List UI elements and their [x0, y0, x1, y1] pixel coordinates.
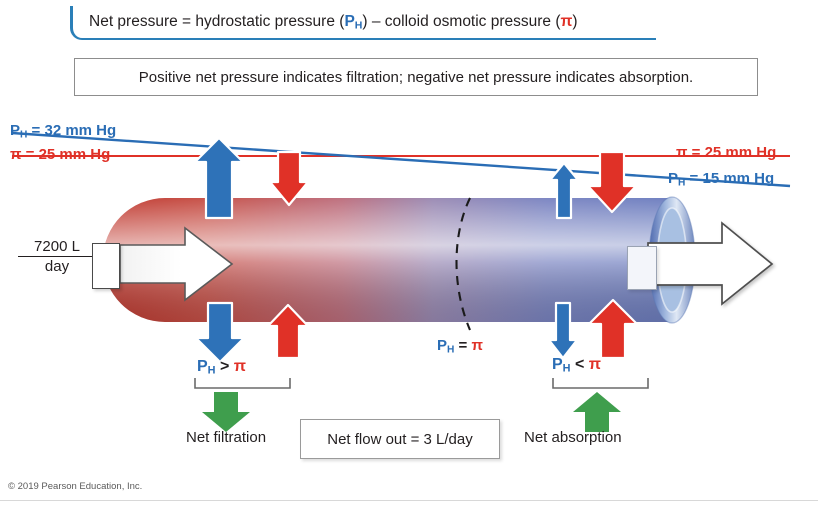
net-filtration-green-arrow [202, 392, 250, 432]
bottom-divider [0, 500, 818, 501]
inflow-rate-numerator: 7200 L [18, 238, 96, 257]
venous-pressure-comparison: PH < π [552, 356, 601, 375]
formula-suffix: ) [572, 13, 577, 31]
net-absorption-green-arrow [573, 392, 621, 432]
statement-box: Positive net pressure indicates filtrati… [74, 58, 758, 96]
figure-canvas: Net pressure = hydrostatic pressure (PH)… [0, 0, 818, 508]
venous-osmotic-label: π = 25 mm Hg [676, 144, 776, 161]
net-flow-out-box: Net flow out = 3 L/day [300, 419, 500, 459]
statement-text: Positive net pressure indicates filtrati… [139, 69, 693, 86]
absorption-bracket [553, 378, 648, 388]
inflow-rate-label: 7200 L day [18, 238, 96, 275]
venous-outlet-block [627, 246, 657, 290]
equilibrium-pressure-comparison: PH = π [437, 337, 483, 356]
formula-prefix: Net pressure = hydrostatic pressure ( [89, 13, 344, 31]
filtration-bracket [195, 378, 290, 388]
copyright-notice: © 2019 Pearson Education, Inc. [8, 481, 142, 492]
net-absorption-caption: Net absorption [524, 429, 622, 446]
arterial-osmotic-label: π = 25 mm Hg [10, 146, 110, 163]
arterial-osmotic-down-arrow [270, 152, 308, 205]
venous-hydrostatic-label: PH = 15 mm Hg [668, 170, 774, 189]
net-filtration-caption: Net filtration [186, 429, 266, 446]
formula-pi-symbol: π [561, 13, 573, 31]
formula-ph-subscript: H [355, 19, 363, 31]
formula-middle: ) – colloid osmotic pressure ( [362, 13, 560, 31]
formula-ph-symbol: PH [344, 13, 362, 32]
arterial-inlet-block [92, 243, 120, 289]
inflow-rate-denominator: day [18, 257, 96, 275]
net-pressure-formula-box: Net pressure = hydrostatic pressure (PH)… [70, 6, 656, 40]
arterial-pressure-comparison: PH > π [197, 358, 246, 377]
arterial-hydrostatic-label: PH = 32 mm Hg [10, 122, 116, 141]
net-flow-out-text: Net flow out = 3 L/day [327, 431, 473, 448]
